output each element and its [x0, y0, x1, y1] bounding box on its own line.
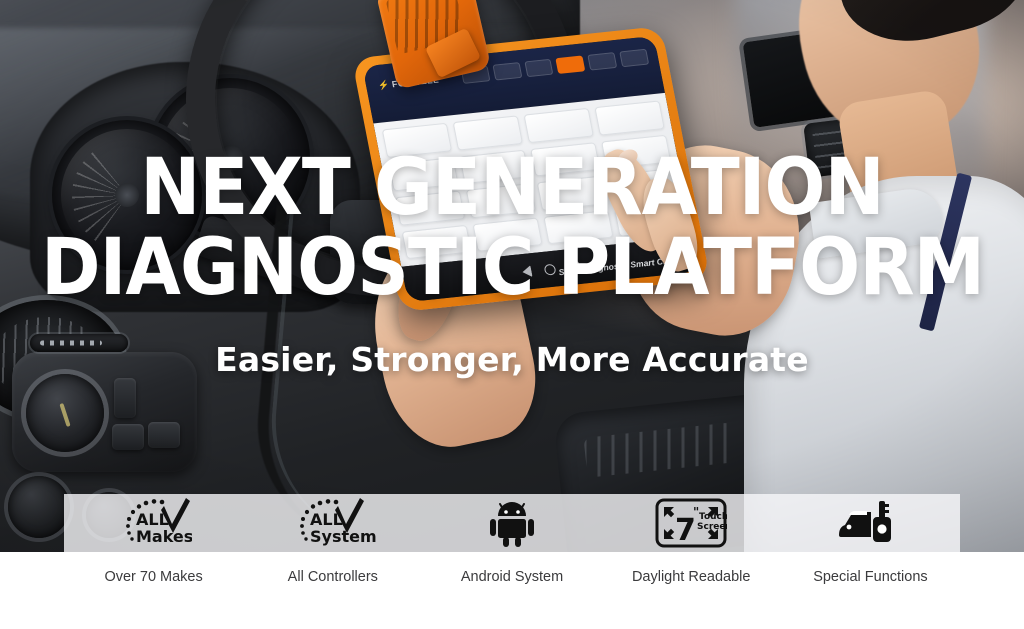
hero-banner: ⚡FOXWELL	[0, 0, 1024, 629]
rear-fog-light-button	[148, 422, 180, 448]
menu-tile[interactable]	[524, 108, 594, 143]
svg-text:Systems: Systems	[310, 527, 376, 546]
car-key-fob-icon	[835, 494, 905, 552]
tachometer-gauge	[52, 120, 202, 270]
tab-chip-setup[interactable]	[619, 49, 649, 68]
feature-item-all-controllers[interactable]: ALL Systems All Controllers	[243, 494, 422, 585]
menu-tile[interactable]	[530, 142, 600, 177]
menu-tile[interactable]	[395, 191, 465, 226]
android-robot-icon	[487, 494, 537, 552]
tachometer-hub	[115, 183, 139, 207]
lower-dash-knob-large	[8, 476, 70, 538]
feature-label-over-70-makes: Over 70 Makes	[104, 569, 202, 585]
home-icon[interactable]	[543, 263, 556, 275]
dashboard-dimmer-slider	[30, 334, 128, 352]
headlight-switch-panel	[12, 352, 197, 472]
menu-tile[interactable]	[543, 209, 613, 244]
menu-tile[interactable]	[594, 100, 664, 135]
menu-tile[interactable]	[388, 157, 458, 192]
svg-text:Touch: Touch	[699, 512, 727, 522]
menu-tile[interactable]	[382, 123, 452, 158]
tab-chip-body[interactable]	[492, 62, 522, 81]
feature-label-daylight-readable: Daylight Readable	[632, 569, 751, 585]
tab-chip-network-active[interactable]	[556, 55, 586, 74]
tab-chip-powertrain[interactable]	[524, 59, 554, 78]
tablet-tab-strip[interactable]	[460, 49, 649, 84]
tab-chip-scan[interactable]	[588, 52, 618, 71]
all-makes-icon: ALL Makes	[116, 494, 192, 552]
feature-item-over-70-makes[interactable]: ALL Makes Over 70 Makes	[64, 494, 243, 585]
feature-item-special-functions[interactable]: Special Functions	[781, 494, 960, 585]
foxwell-bolt-icon: ⚡	[377, 80, 390, 91]
menu-tile[interactable]	[472, 217, 542, 252]
menu-tile[interactable]	[466, 183, 536, 218]
menu-tile[interactable]	[401, 224, 471, 259]
feature-label-all-controllers: All Controllers	[288, 569, 378, 585]
feature-strip: ALL Makes Over 70 Makes ALL	[64, 494, 960, 609]
background-photo-car-interior: ⚡FOXWELL	[0, 0, 1024, 552]
feature-label-special-functions: Special Functions	[813, 569, 927, 585]
headlight-rotary-dial	[26, 374, 104, 452]
fog-light-button	[112, 424, 144, 450]
seven-inch-touch-screen-icon: 7 " Touch Screen	[655, 494, 727, 552]
feature-label-android-system: Android System	[461, 569, 563, 585]
all-systems-icon: ALL Systems	[290, 494, 376, 552]
svg-text:Makes: Makes	[136, 527, 192, 546]
feature-item-daylight-readable[interactable]: 7 " Touch Screen Daylight Readable	[602, 494, 781, 585]
menu-tile[interactable]	[453, 115, 523, 150]
menu-tile[interactable]	[459, 149, 529, 184]
feature-item-android-system[interactable]: Android System	[422, 494, 601, 585]
menu-tile[interactable]	[537, 176, 607, 211]
svg-text:Screen: Screen	[697, 522, 727, 532]
headlight-rocker-switch	[114, 378, 136, 418]
back-icon[interactable]	[521, 265, 532, 278]
